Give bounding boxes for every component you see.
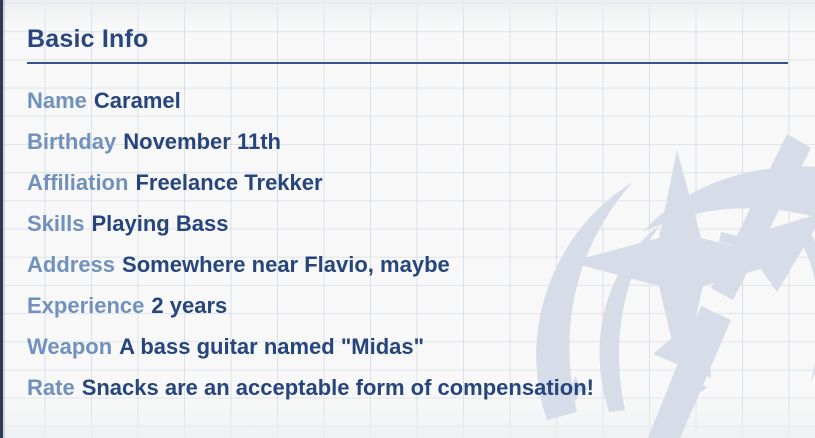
info-row-value: 2 years <box>151 293 227 318</box>
left-edge-rail-soft <box>3 0 5 438</box>
basic-info-card: Basic Info NameCaramel BirthdayNovember … <box>0 0 815 438</box>
info-row-value: Somewhere near Flavio, maybe <box>122 252 450 277</box>
info-row-label: Skills <box>27 211 84 236</box>
info-row-list: NameCaramel BirthdayNovember 11th Affili… <box>27 80 815 408</box>
info-row-label: Name <box>27 88 87 113</box>
card-content: Basic Info NameCaramel BirthdayNovember … <box>27 0 815 438</box>
info-row-value: November 11th <box>123 129 281 154</box>
info-row-value: Freelance Trekker <box>135 170 322 195</box>
list-item: WeaponA bass guitar named "Midas" <box>27 326 815 367</box>
info-row-value: Playing Bass <box>91 211 228 236</box>
list-item: AddressSomewhere near Flavio, maybe <box>27 244 815 285</box>
list-item: Experience2 years <box>27 285 815 326</box>
info-row-label: Weapon <box>27 334 112 359</box>
list-item: AffiliationFreelance Trekker <box>27 162 815 203</box>
list-item: BirthdayNovember 11th <box>27 121 815 162</box>
title-underline-rule <box>27 62 788 64</box>
info-row-value: A bass guitar named "Midas" <box>119 334 424 359</box>
list-item: NameCaramel <box>27 80 815 121</box>
info-row-label: Affiliation <box>27 170 128 195</box>
info-row-value: Snacks are an acceptable form of compens… <box>82 375 594 400</box>
info-row-value: Caramel <box>94 88 181 113</box>
info-row-label: Rate <box>27 375 75 400</box>
list-item: RateSnacks are an acceptable form of com… <box>27 367 815 408</box>
info-row-label: Experience <box>27 293 144 318</box>
info-row-label: Address <box>27 252 115 277</box>
page-title: Basic Info <box>27 27 148 52</box>
list-item: SkillsPlaying Bass <box>27 203 815 244</box>
info-row-label: Birthday <box>27 129 116 154</box>
